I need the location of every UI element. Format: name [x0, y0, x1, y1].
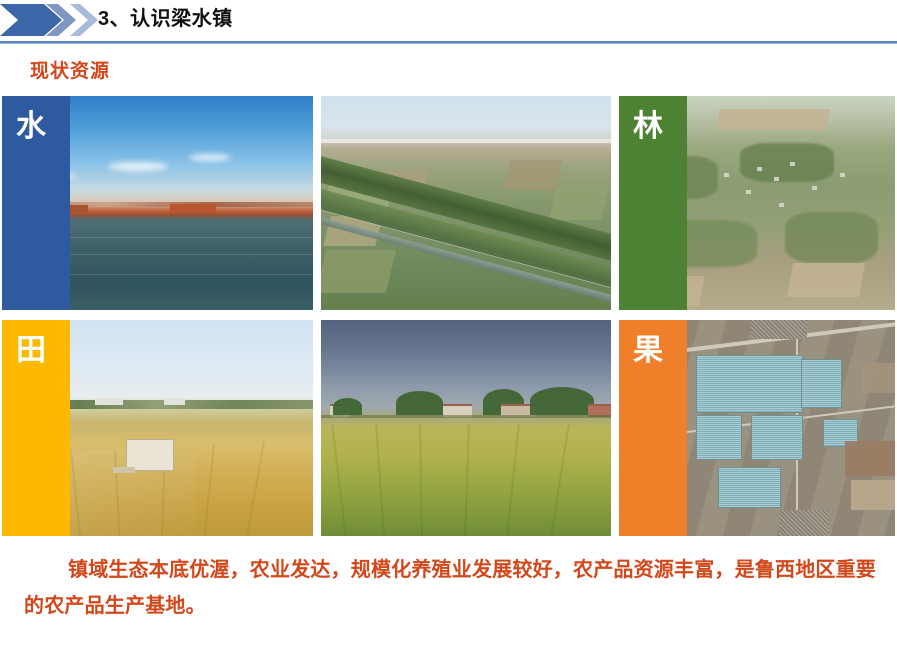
building — [840, 173, 845, 177]
crop-row — [419, 424, 423, 536]
photo-cell-orchard[interactable]: 果 — [619, 320, 895, 536]
crop-furrow — [247, 441, 265, 535]
distant-building — [164, 398, 186, 405]
crop-furrow — [204, 445, 215, 535]
combine-harvester — [126, 439, 174, 471]
building — [790, 162, 795, 166]
building — [746, 190, 751, 194]
page-header: 3、认识梁水镇 — [0, 0, 897, 44]
bare-parcel — [862, 363, 895, 393]
resource-tag-farmland: 田 — [2, 320, 70, 536]
bare-field — [787, 263, 865, 297]
greenhouse-block — [751, 415, 803, 460]
crop-row — [507, 424, 521, 536]
photo-cell-water[interactable]: 水 — [2, 96, 313, 310]
bare-parcel — [851, 480, 895, 510]
bare-field — [716, 109, 830, 130]
resource-tag-forest: 林 — [619, 96, 687, 310]
photo-cell-river-corridor[interactable] — [321, 96, 611, 310]
bare-parcel — [845, 441, 895, 476]
section-label-current-resources: 现状资源 — [30, 56, 110, 83]
photo-cell-cropland[interactable] — [321, 320, 611, 536]
page-title: 3、认识梁水镇 — [98, 4, 233, 34]
village-cluster — [751, 320, 806, 339]
resource-tag-water: 水 — [2, 96, 70, 310]
village-cluster — [779, 510, 829, 536]
crop-row — [464, 424, 470, 536]
summary-caption: 镇域生态本底优渥，农业发达，规模化养殖业发展较好，农产品资源丰富，是鲁西地区重要… — [24, 552, 884, 624]
resource-photo-grid: 水 — [2, 96, 895, 536]
field-horizon — [321, 415, 611, 418]
building — [812, 186, 817, 190]
crop-row — [550, 424, 570, 535]
photo-cell-forest[interactable]: 林 — [619, 96, 895, 310]
resource-tag-orchard: 果 — [619, 320, 687, 536]
farm-parcel — [503, 160, 563, 190]
building — [757, 167, 762, 171]
header-divider — [0, 41, 897, 44]
farm-parcel — [321, 250, 396, 293]
distant-building — [95, 398, 123, 405]
crop-row — [332, 424, 348, 536]
tree-canopy — [740, 143, 834, 182]
river-corridor-aerial-photo — [321, 96, 611, 310]
chevron-decoration — [0, 4, 100, 36]
tree-cluster — [333, 398, 362, 415]
cloud — [108, 162, 168, 171]
farm-parcel — [549, 186, 610, 220]
tree-cluster — [530, 387, 594, 415]
greenhouse-block — [696, 415, 742, 460]
building — [779, 203, 784, 207]
greenhouse-block — [718, 467, 781, 508]
building — [724, 173, 729, 177]
building — [774, 177, 779, 181]
photo-cell-farmland[interactable]: 田 — [2, 320, 313, 536]
green-cropland-photo — [321, 320, 611, 536]
tree-canopy — [785, 212, 879, 263]
barge-vessel — [170, 204, 216, 213]
cloud — [189, 154, 231, 161]
crop-row — [375, 424, 385, 536]
horizon-line — [321, 139, 611, 143]
greenhouse-block — [801, 359, 842, 409]
greenhouse-block — [696, 355, 803, 413]
tree-cluster — [396, 391, 442, 415]
